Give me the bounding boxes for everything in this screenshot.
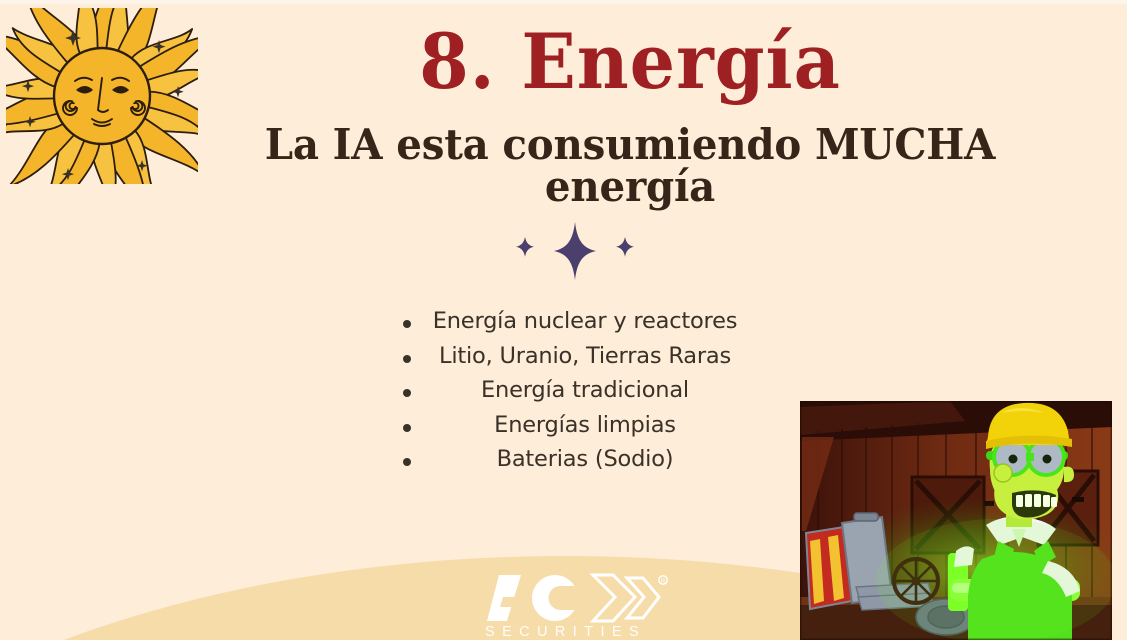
list-item-label: Litio, Uranio, Tierras Raras	[439, 343, 731, 369]
sun-illustration	[6, 8, 198, 184]
list-item: Energías limpias	[290, 412, 880, 447]
svg-text:R: R	[661, 579, 666, 585]
sparkle-left-icon	[516, 237, 534, 257]
list-item-label: Energía tradicional	[481, 377, 689, 403]
list-item: Litio, Uranio, Tierras Raras	[290, 343, 880, 378]
bullet-dot-icon	[403, 458, 411, 466]
page-subtitle: La IA esta consumiendo MUCHA energía	[208, 124, 1053, 208]
sparkle-divider-svg	[495, 222, 655, 280]
sparkle-divider	[495, 222, 655, 280]
list-item: Baterias (Sodio)	[290, 446, 880, 481]
homer-simpson-photo	[800, 401, 1112, 640]
homer-photo-svg	[800, 401, 1112, 640]
bullet-list: Energía nuclear y reactores Litio, Urani…	[290, 308, 880, 481]
bullet-dot-icon	[403, 424, 411, 432]
bullet-dot-icon	[403, 320, 411, 328]
sun-disc	[54, 48, 150, 144]
top-edge-strip	[0, 0, 1127, 4]
bullet-dot-icon	[403, 355, 411, 363]
bullet-dot-icon	[403, 389, 411, 397]
list-item-label: Baterias (Sodio)	[497, 446, 674, 472]
list-item: Energía tradicional	[290, 377, 880, 412]
title-block: 8. Energía La IA esta consumiendo MUCHA …	[190, 24, 1070, 208]
list-item-label: Energías limpias	[494, 412, 676, 438]
sparkle-right-icon	[616, 237, 634, 257]
acy-securities-logo: R SECURITIES	[477, 566, 707, 640]
sparkle-center-icon	[554, 222, 596, 280]
logo-tagline: SECURITIES	[485, 624, 646, 640]
sun-svg	[6, 8, 198, 184]
list-item: Energía nuclear y reactores	[290, 308, 880, 343]
page-title: 8. Energía	[216, 24, 1043, 100]
list-item-label: Energía nuclear y reactores	[433, 308, 738, 334]
acy-logo-svg: R SECURITIES	[477, 566, 707, 640]
presentation-slide: R SECURITIES	[0, 0, 1127, 640]
